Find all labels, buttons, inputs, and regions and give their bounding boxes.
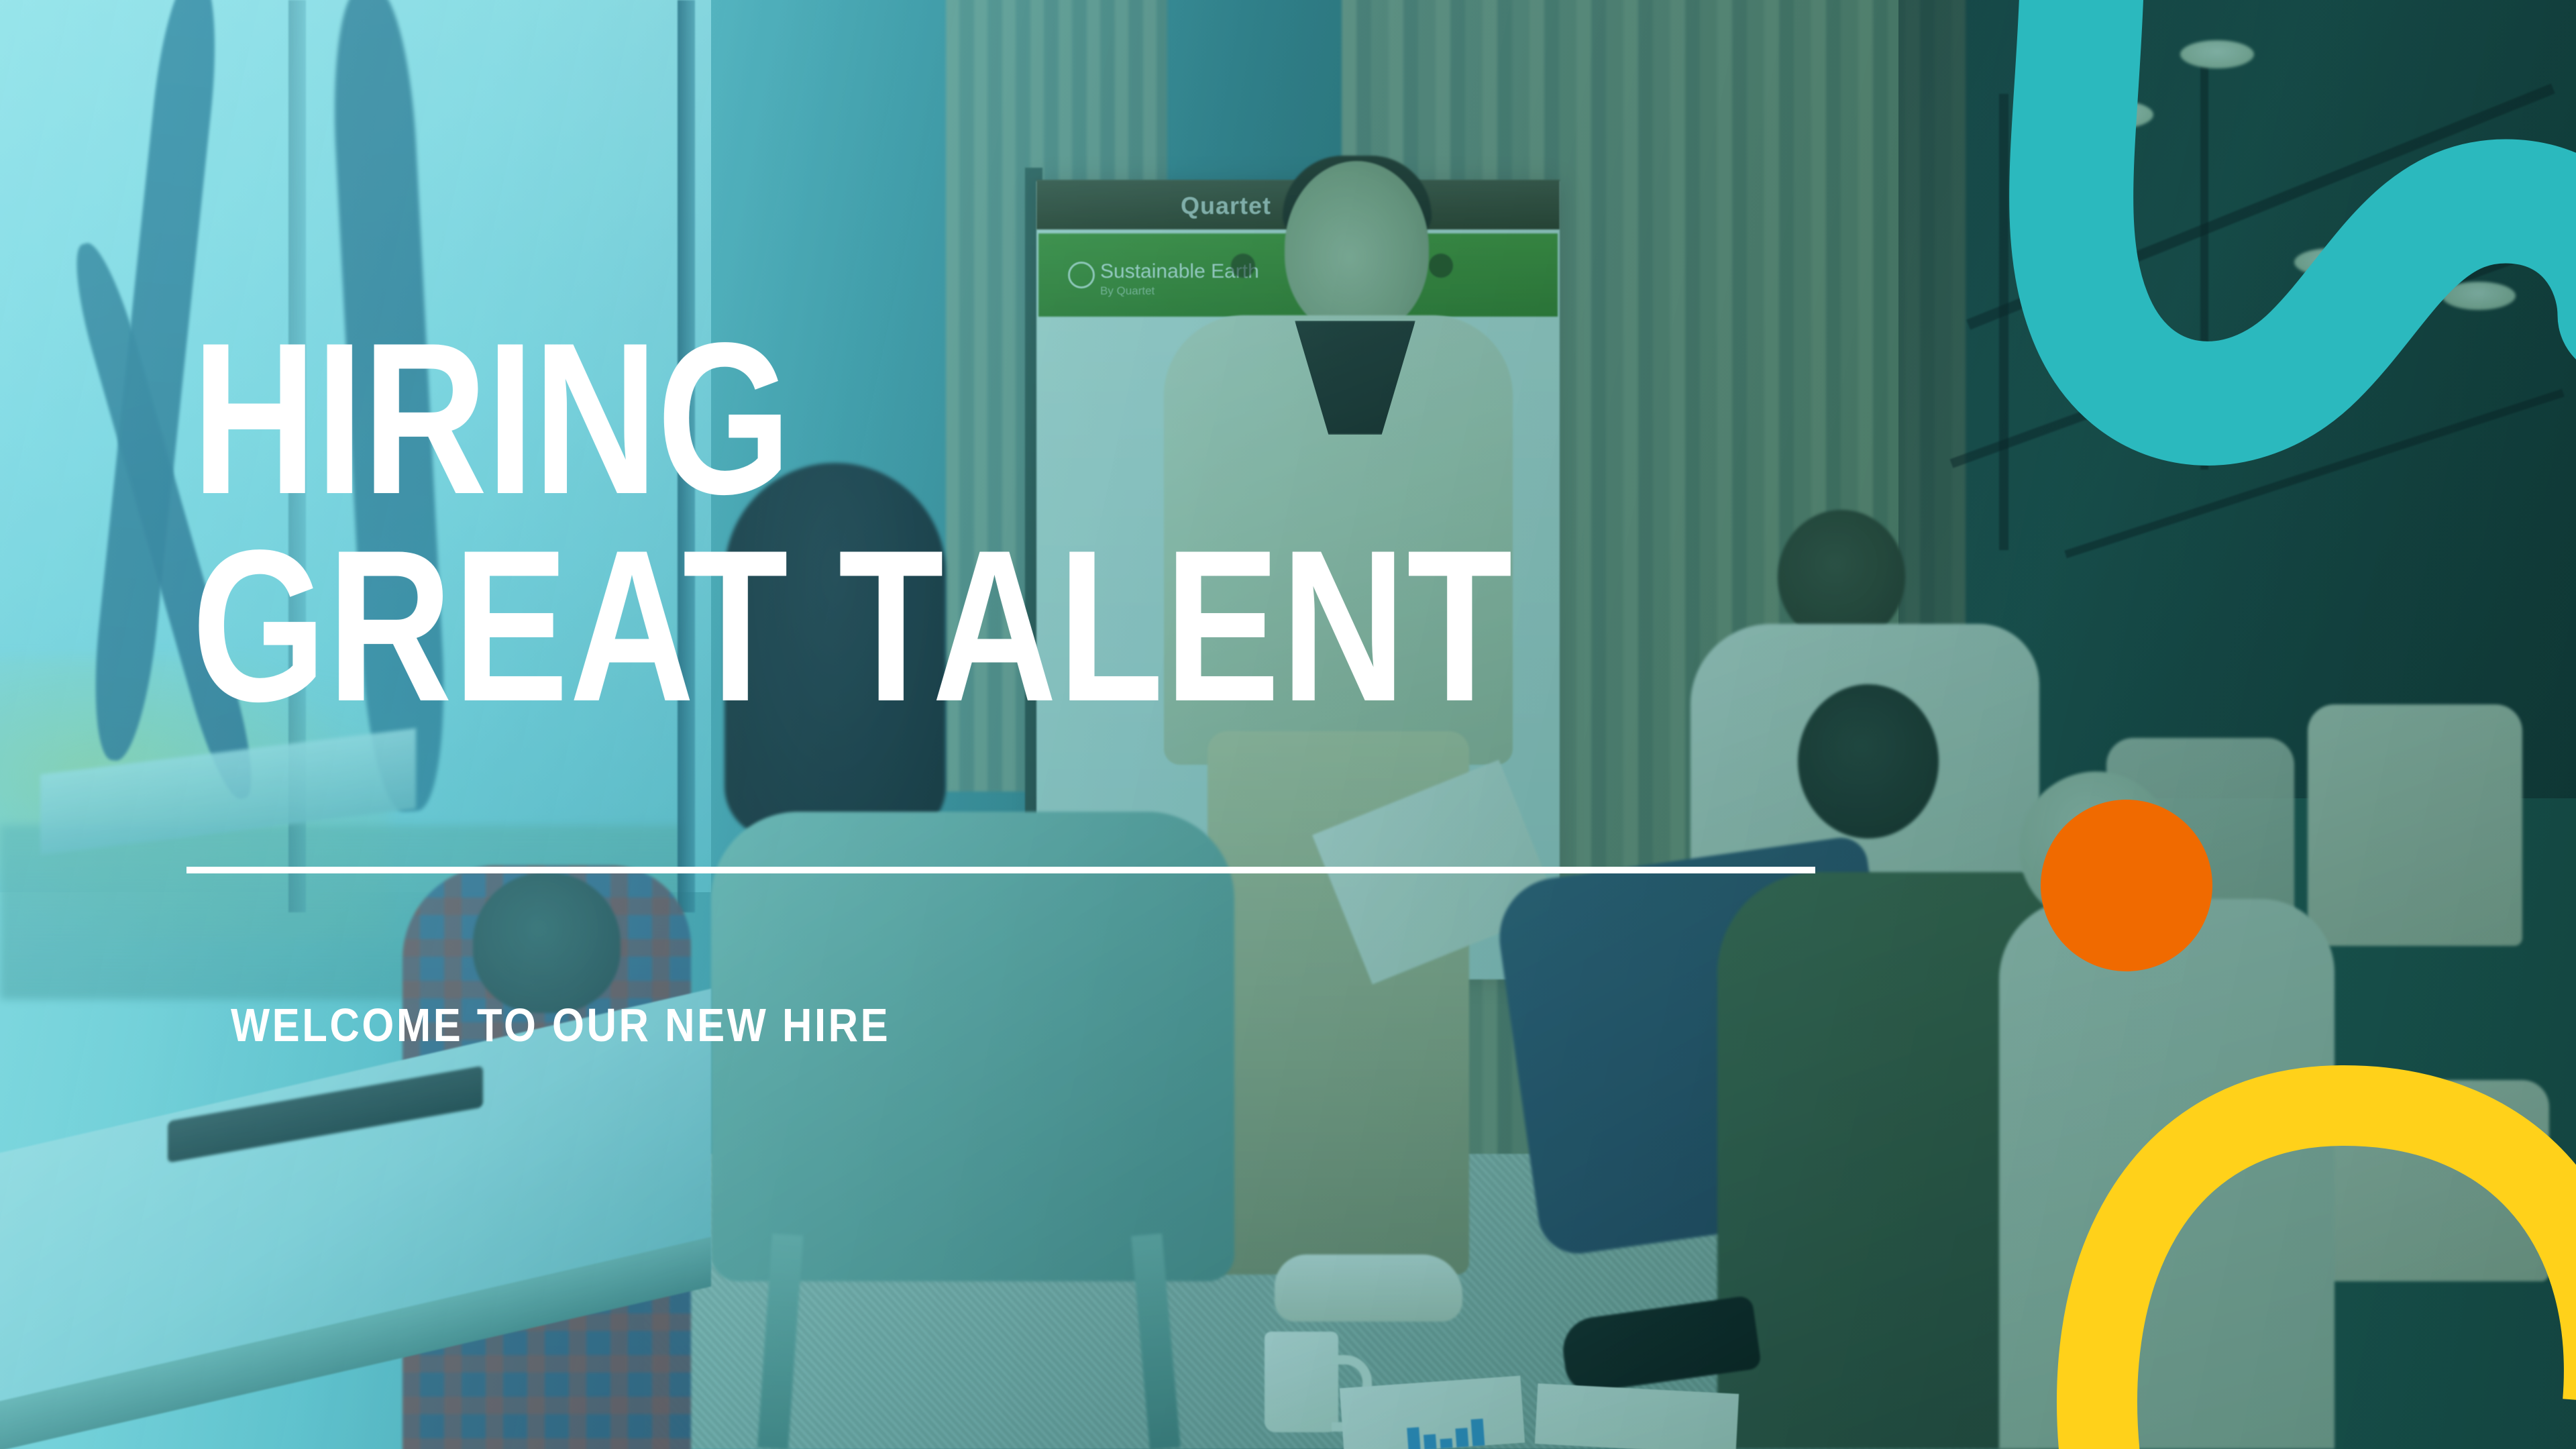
page-title: HIRINGGREAT TALENT <box>192 315 1513 730</box>
subheadline: WELCOME TO OUR NEW HIRE <box>231 998 890 1052</box>
headline-line-1: HIRING <box>192 299 790 539</box>
divider-rule <box>186 867 1815 873</box>
headline-line-2: GREAT TALENT <box>192 506 1513 747</box>
hiring-banner: Quartet Sustainable Earth By Quartet <box>0 0 2576 1449</box>
